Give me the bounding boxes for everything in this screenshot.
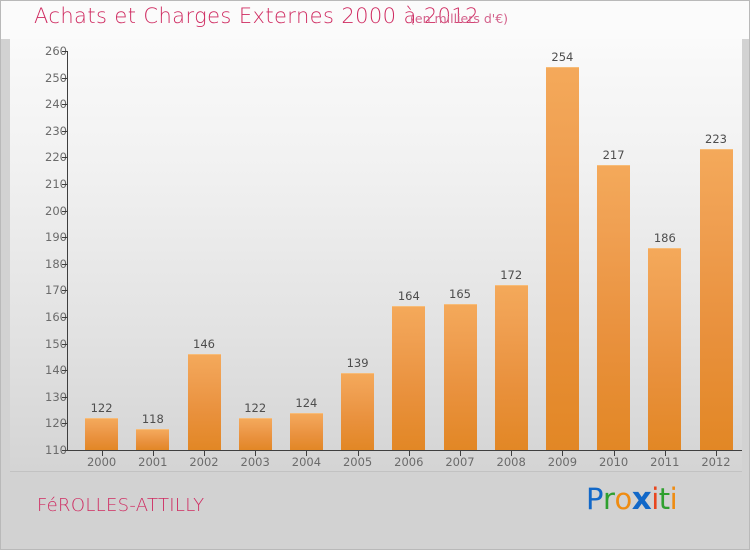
y-axis-tick-label: 160 [27,310,67,324]
chart-footer: FéROLLES-ATTILLY Proxiti [1,471,750,550]
x-axis-tick-label-2004: 2004 [284,455,328,469]
bar-value-2004: 124 [284,396,328,410]
y-axis-tick-mark [62,264,68,265]
x-axis-tick-label-2007: 2007 [438,455,482,469]
y-axis-tick-label: 140 [27,363,67,377]
x-axis-tick-label-2008: 2008 [489,455,533,469]
bar-2010[interactable] [597,165,630,450]
bar-2007[interactable] [444,304,477,450]
y-axis-tick-label: 210 [27,177,67,191]
chart-frame: Achats et Charges Externes 2000 à 2012 (… [0,0,750,550]
x-axis-tick-label-2005: 2005 [336,455,380,469]
footer-divider [10,471,742,472]
x-axis-tick-label-2003: 2003 [233,455,277,469]
x-axis-tick-label-2011: 2011 [643,455,687,469]
logo-letter-o-2: o [614,485,631,514]
y-axis-tick-mark [62,157,68,158]
commune-name: FéROLLES-ATTILLY [37,495,204,516]
bar-value-2010: 217 [592,148,636,162]
bar-2011[interactable] [648,248,681,450]
bar-2009[interactable] [546,67,579,450]
y-axis-tick-mark [62,344,68,345]
y-axis-tick-mark [62,290,68,291]
bar-2012[interactable] [700,149,733,450]
x-axis-tick-mark [358,451,359,456]
y-axis-tick-label: 180 [27,257,67,271]
y-axis-tick-label: 200 [27,204,67,218]
bar-value-2009: 254 [540,50,584,64]
bar-value-2001: 118 [131,412,175,426]
bar-2002[interactable] [188,354,221,450]
bar-2006[interactable] [392,306,425,450]
x-axis-tick-mark [409,451,410,456]
x-axis-tick-mark [460,451,461,456]
x-axis-tick-label-2012: 2012 [694,455,738,469]
x-axis-line [67,450,742,451]
x-axis-tick-mark [306,451,307,456]
bar-2004[interactable] [290,413,323,450]
logo-letter-P-0: P [586,485,603,514]
y-axis-tick-mark [62,450,68,451]
logo-letter-r-1: r [603,485,614,514]
x-axis-tick-label-2001: 2001 [131,455,175,469]
y-axis-tick-label: 150 [27,337,67,351]
logo-letter-i-4: i [651,485,659,514]
chart-unit-label: (en milliers d'€) [410,11,508,26]
bar-value-2012: 223 [694,132,738,146]
y-axis-tick-mark [62,78,68,79]
bar-2001[interactable] [136,429,169,450]
bar-value-2003: 122 [233,401,277,415]
y-axis-tick-mark [62,131,68,132]
y-axis-tick-mark [62,51,68,52]
y-axis-tick-label: 120 [27,416,67,430]
x-axis-tick-mark [614,451,615,456]
x-axis-tick-mark [665,451,666,456]
y-axis-tick-mark [62,397,68,398]
y-axis-tick-label: 260 [27,44,67,58]
y-axis-tick-label: 250 [27,71,67,85]
y-axis-tick-label: 170 [27,283,67,297]
y-axis-tick-mark [62,317,68,318]
bar-value-2008: 172 [489,268,533,282]
x-axis-tick-label-2010: 2010 [592,455,636,469]
y-axis-tick-label: 230 [27,124,67,138]
x-axis-tick-mark [204,451,205,456]
x-axis-tick-mark [102,451,103,456]
x-axis-tick-mark [153,451,154,456]
y-axis-tick-label: 240 [27,97,67,111]
y-axis-line [67,51,68,451]
y-axis-tick-mark [62,184,68,185]
x-axis-tick-mark [562,451,563,456]
bar-2005[interactable] [341,373,374,450]
proxiti-logo[interactable]: Proxiti [586,484,677,515]
chart-header: Achats et Charges Externes 2000 à 2012 (… [1,1,750,39]
y-axis-tick-label: 130 [27,390,67,404]
logo-letter-x-3: x [632,484,652,515]
y-axis-tick-mark [62,237,68,238]
bar-value-2000: 122 [80,401,124,415]
x-axis-tick-mark [511,451,512,456]
x-axis-tick-label-2002: 2002 [182,455,226,469]
x-axis-tick-mark [255,451,256,456]
y-axis-labels: 1101201301401501601701801902002102202302… [17,39,67,471]
logo-letter-t-5: t [659,485,670,514]
y-axis-tick-label: 220 [27,150,67,164]
x-axis-tick-label-2009: 2009 [540,455,584,469]
y-axis-tick-mark [62,423,68,424]
bar-value-2005: 139 [336,356,380,370]
bar-value-2011: 186 [643,231,687,245]
x-axis-tick-label-2000: 2000 [80,455,124,469]
y-axis-tick-label: 110 [27,443,67,457]
bar-value-2006: 164 [387,289,431,303]
bar-2003[interactable] [239,418,272,450]
bar-2000[interactable] [85,418,118,450]
bar-2008[interactable] [495,285,528,450]
y-axis-tick-mark [62,104,68,105]
bar-value-2007: 165 [438,287,482,301]
plot-area: 1101201301401501601701801902002102202302… [10,39,742,471]
y-axis-tick-mark [62,211,68,212]
bar-value-2002: 146 [182,337,226,351]
logo-letter-i-6: i [670,485,678,514]
y-axis-tick-mark [62,370,68,371]
x-axis-tick-label-2006: 2006 [387,455,431,469]
x-axis-tick-mark [716,451,717,456]
y-axis-tick-label: 190 [27,230,67,244]
